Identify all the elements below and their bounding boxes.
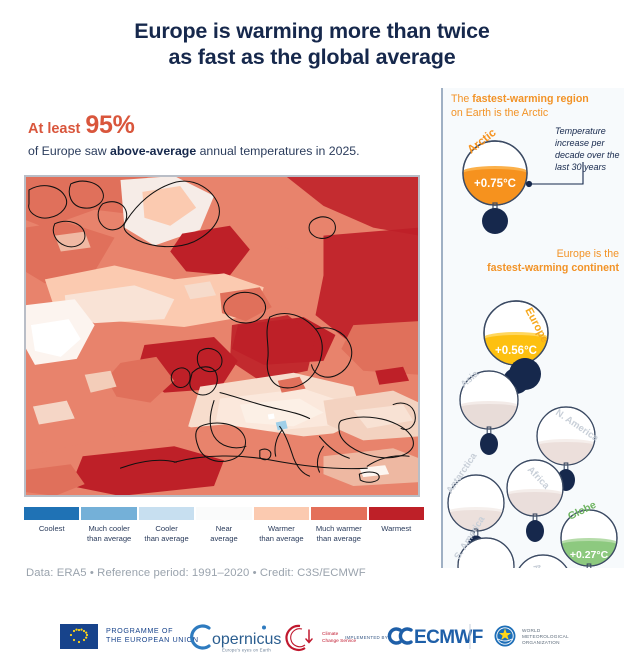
wmo-text-line-3: ORGANIZATION [522,640,560,645]
legend-swatch-coolest [24,507,79,520]
legend-label-much-warmer-l1: Much warmer [316,524,362,533]
copernicus-wordmark: opernicus [212,631,281,648]
stat-value: 95% [85,111,134,139]
legend-label-near-average-l2: average [210,534,237,543]
legend-label-cooler-l2: than average [144,534,188,543]
temperature-anomaly-map [24,175,420,497]
page-title: Europe is warming more than twice as fas… [0,18,624,70]
legend-label-much-warmer: Much warmer than average [311,524,366,543]
legend-label-much-cooler-l1: Much cooler [88,524,129,533]
eu-text-line-1: PROGRAMME OF [106,626,173,635]
stat-desc-before: of Europe saw [28,144,110,158]
legend-label-warmer-l2: than average [259,534,303,543]
globe-arctic: +0.75°C Arctic [462,126,528,234]
globe-africa: Africa [506,460,564,542]
warming-globes-chart: +0.75°C Arctic +0.56°C Europe [443,88,624,568]
implemented-by-text: IMPLEMENTED BY [345,635,388,640]
stat-desc-bold: above-average [110,144,196,158]
eu-flag-icon [60,624,98,649]
legend-label-cooler: Cooler than average [139,524,194,543]
legend-label-warmest: Warmest [369,524,424,543]
stat-line-1: At least95% [28,113,428,138]
legend-swatch-much-cooler [81,507,136,520]
stat-desc-after: annual temperatures in 2025. [196,144,359,158]
footer-logos: PROGRAMME OF THE EUROPEAN UNION opernicu… [0,612,624,660]
legend-label-warmer-l1: Warmer [268,524,295,533]
legend-label-near-average-l1: Near [216,524,232,533]
wmo-logo [495,626,516,647]
ecmwf-wordmark: ECMWF [414,627,483,648]
legend-label-near-average: Near average [196,524,251,543]
map-graphic [25,176,419,496]
stat-description: of Europe saw above-average annual tempe… [28,144,428,159]
legend-swatch-warmer [254,507,309,520]
globe-global: +0.27°C Globe [560,499,618,568]
legend-label-much-cooler: Much cooler than average [81,524,136,543]
eu-text-line-2: THE EUROPEAN UNION [106,635,199,644]
legend-label-coolest-text: Coolest [39,524,65,533]
globe-asia: Asia [459,358,541,455]
stat-prefix: At least [28,121,80,137]
legend-label-cooler-l1: Cooler [155,524,177,533]
legend-label-much-cooler-l2: than average [87,534,131,543]
europe-value-label: +0.56°C [495,345,537,357]
legend-label-warmest-text: Warmest [381,524,411,533]
globe-australasia: Australasia [514,555,572,568]
map-legend: Coolest Much cooler than average Cooler … [24,507,424,543]
legend-label-warmer: Warmer than average [254,524,309,543]
legend-swatch-warmest [369,507,424,520]
headline-stat: At least95% of Europe saw above-average … [28,113,428,159]
infographic-root: Europe is warming more than twice as fas… [0,0,624,660]
copernicus-logo: opernicus Europe's eyes on Earth [192,626,282,653]
annotation-leader-line [526,162,583,187]
legend-swatches [24,507,424,520]
data-credit: Data: ERA5 • Reference period: 1991–2020… [26,567,366,579]
legend-label-coolest: Coolest [24,524,79,543]
legend-swatch-near-average [196,507,251,520]
ecmwf-logo: ECMWF [389,627,482,648]
arctic-value-label: +0.75°C [474,178,516,190]
legend-swatch-much-warmer [311,507,366,520]
copernicus-tagline: Europe's eyes on Earth [222,648,271,653]
legend-labels: Coolest Much cooler than average Cooler … [24,524,424,543]
globe-value-label: +0.27°C [570,549,609,561]
title-line-2: as fast as the global average [0,44,624,70]
legend-swatch-cooler [139,507,194,520]
wmo-text-line-1: WORLD [522,628,541,633]
c3s-text-line-1: Climate [322,631,339,637]
wmo-text-line-2: METEOROLOGICAL [522,634,569,639]
legend-label-much-warmer-l2: than average [317,534,361,543]
title-line-1: Europe is warming more than twice [134,19,489,43]
left-column: At least95% of Europe saw above-average … [0,95,440,595]
footer-logo-strip: PROGRAMME OF THE EUROPEAN UNION opernicu… [0,612,624,660]
right-panel: The fastest-warming region on Earth is t… [441,88,624,568]
